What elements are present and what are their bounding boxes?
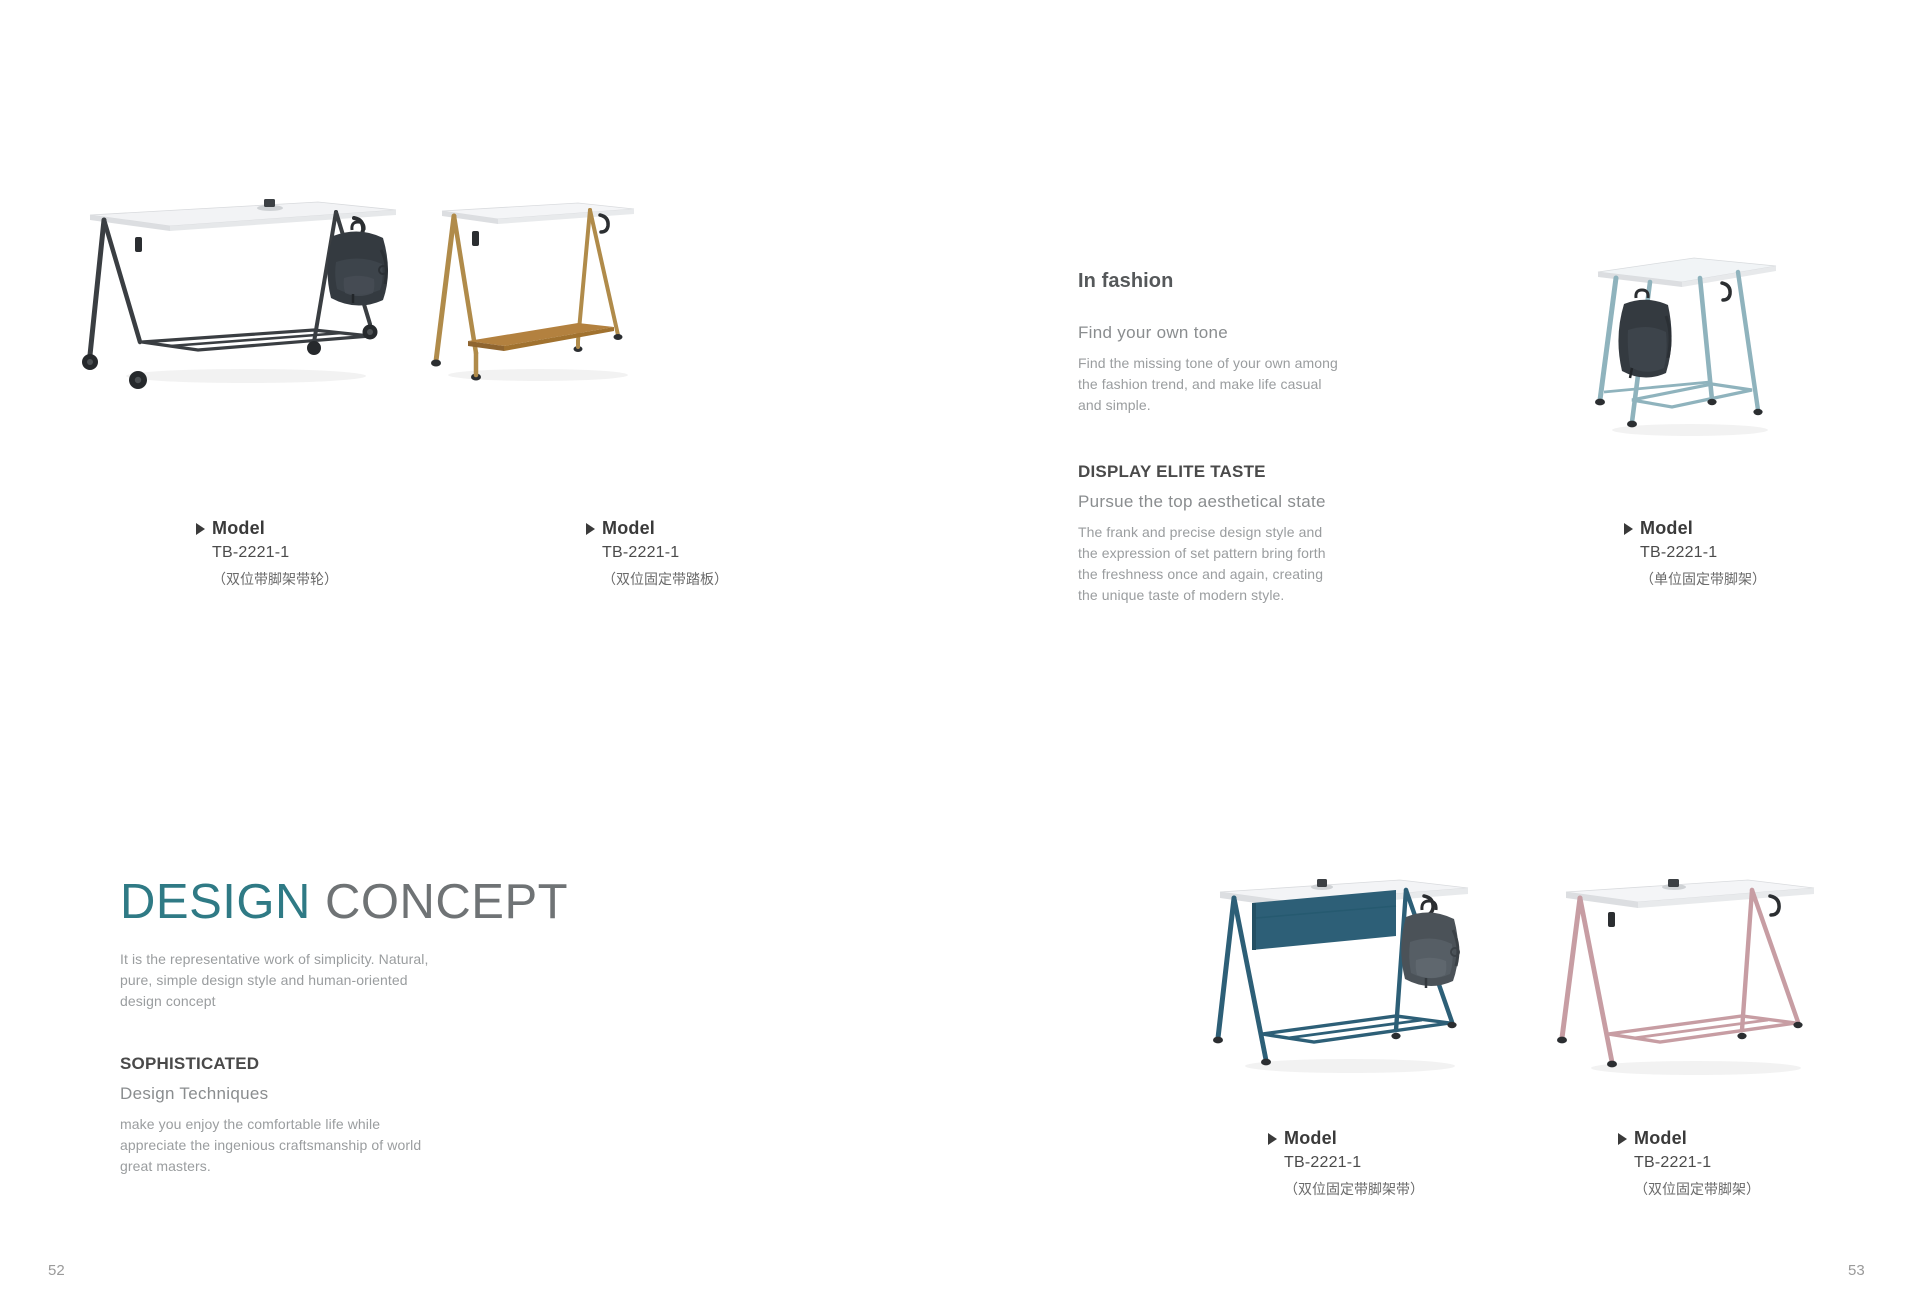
product-image-desk-gold-shelf [428, 193, 648, 388]
wood-footboard-shelf [468, 323, 614, 351]
pursue-top-aesthetical-subheading: Pursue the top aesthetical state [1078, 492, 1338, 512]
table-top [442, 203, 634, 224]
design-concept-heading-word1: DESIGN [120, 875, 311, 929]
model-number: TB-2221-1 [1624, 544, 1766, 562]
product-image-desk-teal-panel [1210, 870, 1480, 1080]
model-number: TB-2221-1 [1268, 1154, 1424, 1172]
table-top [1598, 258, 1776, 287]
model-spec-cn: （双位固定带脚架带） [1268, 1179, 1424, 1199]
in-fashion-subheading: Find your own tone [1078, 323, 1338, 343]
sophisticated-eyebrow: SOPHISTICATED [120, 1054, 440, 1074]
page-number-right: 53 [1848, 1262, 1865, 1279]
bullet-triangle-icon [1268, 1133, 1277, 1145]
design-techniques-subheading: Design Techniques [120, 1084, 440, 1104]
foot-rail [1604, 382, 1752, 407]
in-fashion-body: Find the missing tone of your own among … [1078, 353, 1338, 416]
backpack [1401, 901, 1459, 988]
foot-rail [142, 330, 370, 350]
caption-desk-teal-panel: Model TB-2221-1 （双位固定带脚架带） [1268, 1128, 1424, 1199]
display-elite-taste-body: The frank and precise design style and t… [1078, 522, 1338, 606]
bullet-triangle-icon [586, 523, 595, 535]
bullet-triangle-icon [1618, 1133, 1627, 1145]
table-top [1566, 880, 1814, 908]
design-concept-heading: DESIGN CONCEPT [120, 878, 440, 927]
text-block-design-concept: DESIGN CONCEPT It is the representative … [120, 878, 440, 1177]
model-number: TB-2221-1 [1618, 1154, 1760, 1172]
table-top [90, 202, 396, 231]
backpack [1618, 290, 1671, 378]
model-label: Model [1284, 1128, 1337, 1149]
caption-desk-lightblue-single: Model TB-2221-1 （单位固定带脚架） [1624, 518, 1766, 589]
model-number: TB-2221-1 [586, 544, 728, 562]
model-spec-cn: （单位固定带脚架） [1624, 569, 1766, 589]
page-number-left: 52 [48, 1262, 65, 1279]
model-spec-cn: （双位固定带脚架） [1618, 1179, 1760, 1199]
caption-desk-pink: Model TB-2221-1 （双位固定带脚架） [1618, 1128, 1760, 1199]
caption-desk-black-casters: Model TB-2221-1 （双位带脚架带轮） [196, 518, 338, 589]
product-image-desk-lightblue-single [1590, 250, 1790, 445]
model-spec-cn: （双位固定带踏板） [586, 569, 728, 589]
model-spec-cn: （双位带脚架带轮） [196, 569, 338, 589]
model-number: TB-2221-1 [196, 544, 338, 562]
product-image-desk-black-casters [78, 190, 408, 390]
model-label: Model [602, 518, 655, 539]
design-techniques-body: make you enjoy the comfortable life whil… [120, 1114, 440, 1177]
model-label: Model [1640, 518, 1693, 539]
bullet-triangle-icon [196, 523, 205, 535]
text-block-in-fashion: In fashion Find your own tone Find the m… [1078, 270, 1338, 606]
design-concept-body: It is the representative work of simplic… [120, 949, 440, 1012]
model-label: Model [212, 518, 265, 539]
bullet-triangle-icon [1624, 523, 1633, 535]
display-elite-taste-eyebrow: DISPLAY ELITE TASTE [1078, 462, 1338, 482]
foot-rail [1262, 1016, 1450, 1042]
catalog-spread: In fashion Find your own tone Find the m… [0, 0, 1920, 1303]
caption-desk-gold-shelf: Model TB-2221-1 （双位固定带踏板） [586, 518, 728, 589]
product-image-desk-pink [1556, 872, 1826, 1082]
in-fashion-heading: In fashion [1078, 270, 1338, 293]
backpack [327, 222, 388, 306]
model-label: Model [1634, 1128, 1687, 1149]
design-concept-heading-word2: CONCEPT [325, 875, 568, 929]
foot-rail [1608, 1016, 1796, 1042]
